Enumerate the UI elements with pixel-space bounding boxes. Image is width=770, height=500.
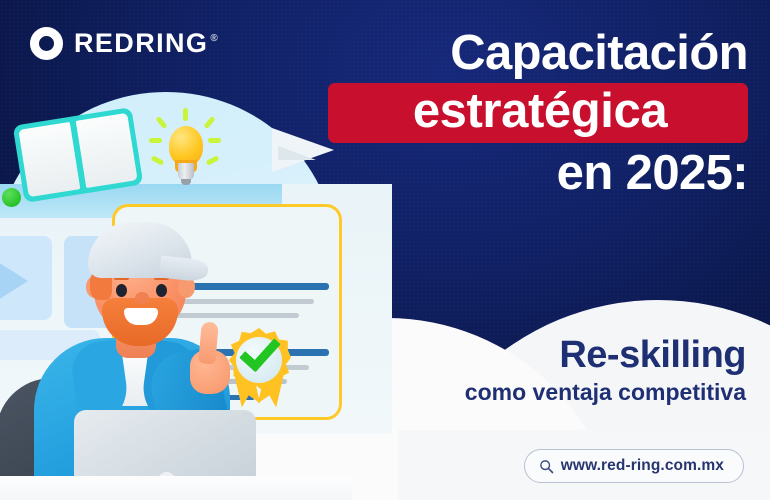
green-dot-icon — [2, 188, 21, 207]
plane-fold — [278, 146, 316, 160]
registered-trademark-icon: ® — [210, 33, 219, 44]
bulb-tip — [181, 179, 191, 185]
bulb-ray — [203, 116, 215, 129]
hero-illustration — [0, 96, 382, 500]
subtitle-block: Re-skilling como ventaja competitiva — [326, 336, 746, 406]
brand-logo[interactable]: REDRING® — [30, 27, 217, 60]
bulb-glass — [169, 126, 203, 166]
brand-logo-text: REDRING® — [74, 30, 217, 57]
desk-surface — [0, 476, 352, 500]
ring-icon — [30, 27, 63, 60]
play-triangle-icon — [0, 262, 28, 300]
character-eye-right — [156, 284, 167, 297]
website-url-text: www.red-ring.com.mx — [561, 457, 724, 475]
bulb-ray — [208, 138, 221, 143]
character-eye-left — [116, 284, 127, 297]
lightbulb-icon — [147, 108, 221, 194]
character-nose — [135, 292, 149, 304]
bulb-base — [178, 163, 194, 180]
book-page-right — [76, 113, 138, 188]
book-page-left — [18, 122, 80, 197]
headline-line-2: estratégica — [413, 84, 667, 138]
bulb-ray — [183, 108, 188, 121]
headline-line-1: Capacitación — [328, 27, 748, 80]
hand-index-finger — [198, 321, 219, 364]
subtitle-main: Re-skilling — [326, 336, 746, 376]
bulb-ray — [149, 138, 162, 143]
bulb-ray — [206, 155, 220, 166]
search-icon — [539, 459, 554, 474]
website-url-bar[interactable]: www.red-ring.com.mx — [524, 449, 744, 483]
marketing-banner: REDRING® Capacitación estratégica en 202… — [0, 0, 770, 500]
bulb-ray — [151, 155, 165, 166]
headline-block: Capacitación estratégica en 2025: — [328, 27, 748, 200]
headline-line-3: en 2025: — [328, 147, 748, 200]
bulb-ray — [155, 116, 167, 129]
award-badge-icon — [218, 324, 302, 416]
brand-logo-wordmark: REDRING — [74, 28, 208, 58]
headline-highlight-box: estratégica — [328, 83, 748, 143]
subtitle-secondary: como ventaja competitiva — [326, 379, 746, 407]
